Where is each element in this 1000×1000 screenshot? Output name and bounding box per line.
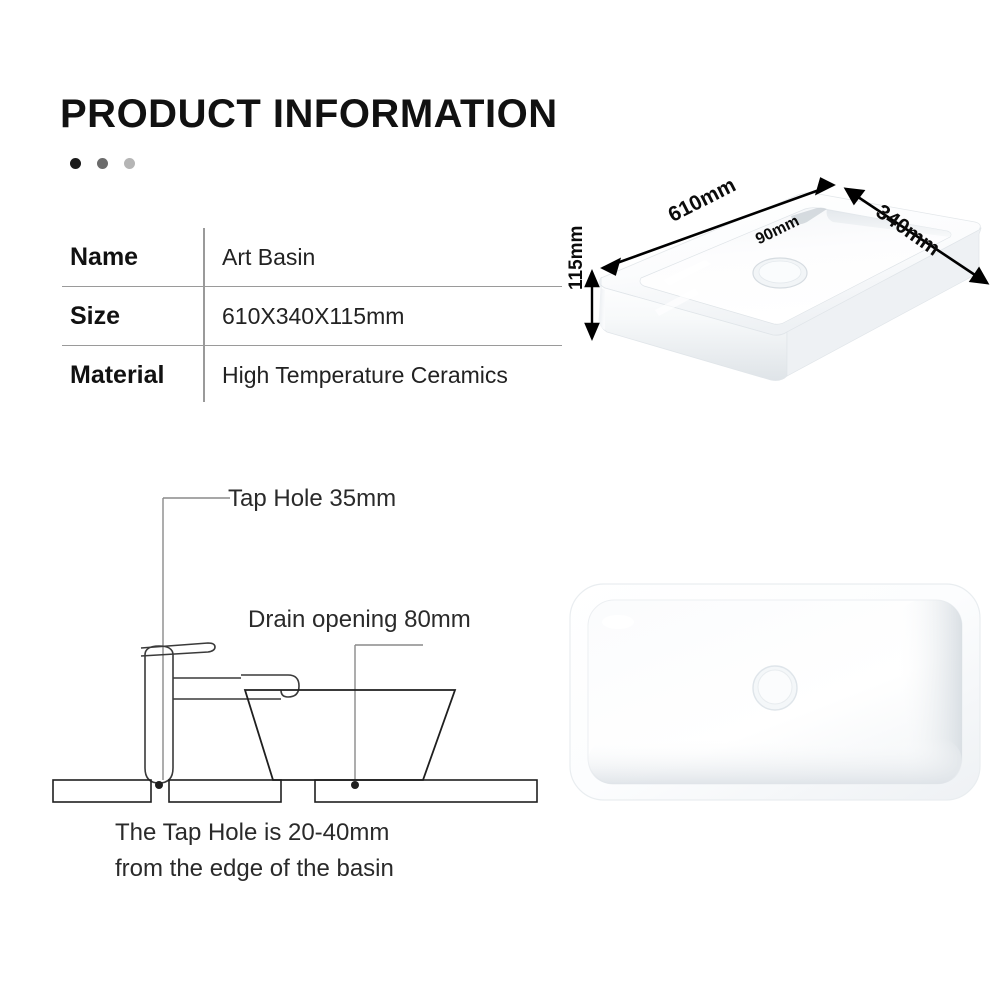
caption-line-1: The Tap Hole is 20-40mm — [115, 815, 394, 851]
dot-active[interactable] — [70, 158, 81, 169]
installation-diagram — [45, 480, 545, 810]
basin-product-photo — [566, 578, 986, 810]
basin-cross-section — [245, 690, 455, 780]
spec-value-name: Art Basin — [202, 244, 315, 271]
faucet-spout — [173, 675, 299, 699]
tap-hole-label: Tap Hole 35mm — [228, 485, 396, 513]
table-row: Name Art Basin — [62, 228, 562, 286]
drain-hole-marker — [351, 781, 359, 789]
page-title: PRODUCT INFORMATION — [60, 92, 558, 137]
basin-3d-illustration — [555, 160, 1000, 440]
caption-line-2: from the edge of the basin — [115, 851, 394, 887]
spec-label-name: Name — [62, 243, 202, 272]
installation-line-drawing — [45, 480, 545, 810]
faucet-handle — [141, 643, 215, 656]
basin-rim-shade-bottom — [588, 738, 962, 784]
carousel-dots[interactable] — [70, 158, 135, 169]
installation-caption: The Tap Hole is 20-40mm from the edge of… — [115, 815, 394, 887]
basin-highlight — [602, 615, 634, 629]
table-row: Material High Temperature Ceramics — [62, 345, 562, 404]
basin-topdown-illustration — [566, 578, 986, 810]
table-row: Size 610X340X115mm — [62, 286, 562, 345]
basin-3d-render — [555, 160, 1000, 440]
spec-label-material: Material — [62, 361, 202, 390]
product-information-page: PRODUCT INFORMATION Name Art Basin Size … — [0, 0, 1000, 1000]
tap-hole-marker — [155, 781, 163, 789]
drain-hole-inner — [759, 261, 801, 283]
drain-cover-inner — [758, 670, 792, 704]
spec-value-material: High Temperature Ceramics — [202, 362, 508, 389]
countertop-slab — [53, 780, 537, 802]
spec-table: Name Art Basin Size 610X340X115mm Materi… — [62, 228, 562, 404]
spec-label-size: Size — [62, 302, 202, 331]
drain-opening-label: Drain opening 80mm — [248, 606, 471, 634]
drain-leader-line — [355, 645, 423, 780]
table-column-divider — [203, 228, 205, 402]
dot-2[interactable] — [97, 158, 108, 169]
spec-value-size: 610X340X115mm — [202, 303, 404, 330]
dim-label-115: 115mm — [566, 226, 588, 290]
dot-3[interactable] — [124, 158, 135, 169]
faucet-body — [145, 646, 173, 783]
